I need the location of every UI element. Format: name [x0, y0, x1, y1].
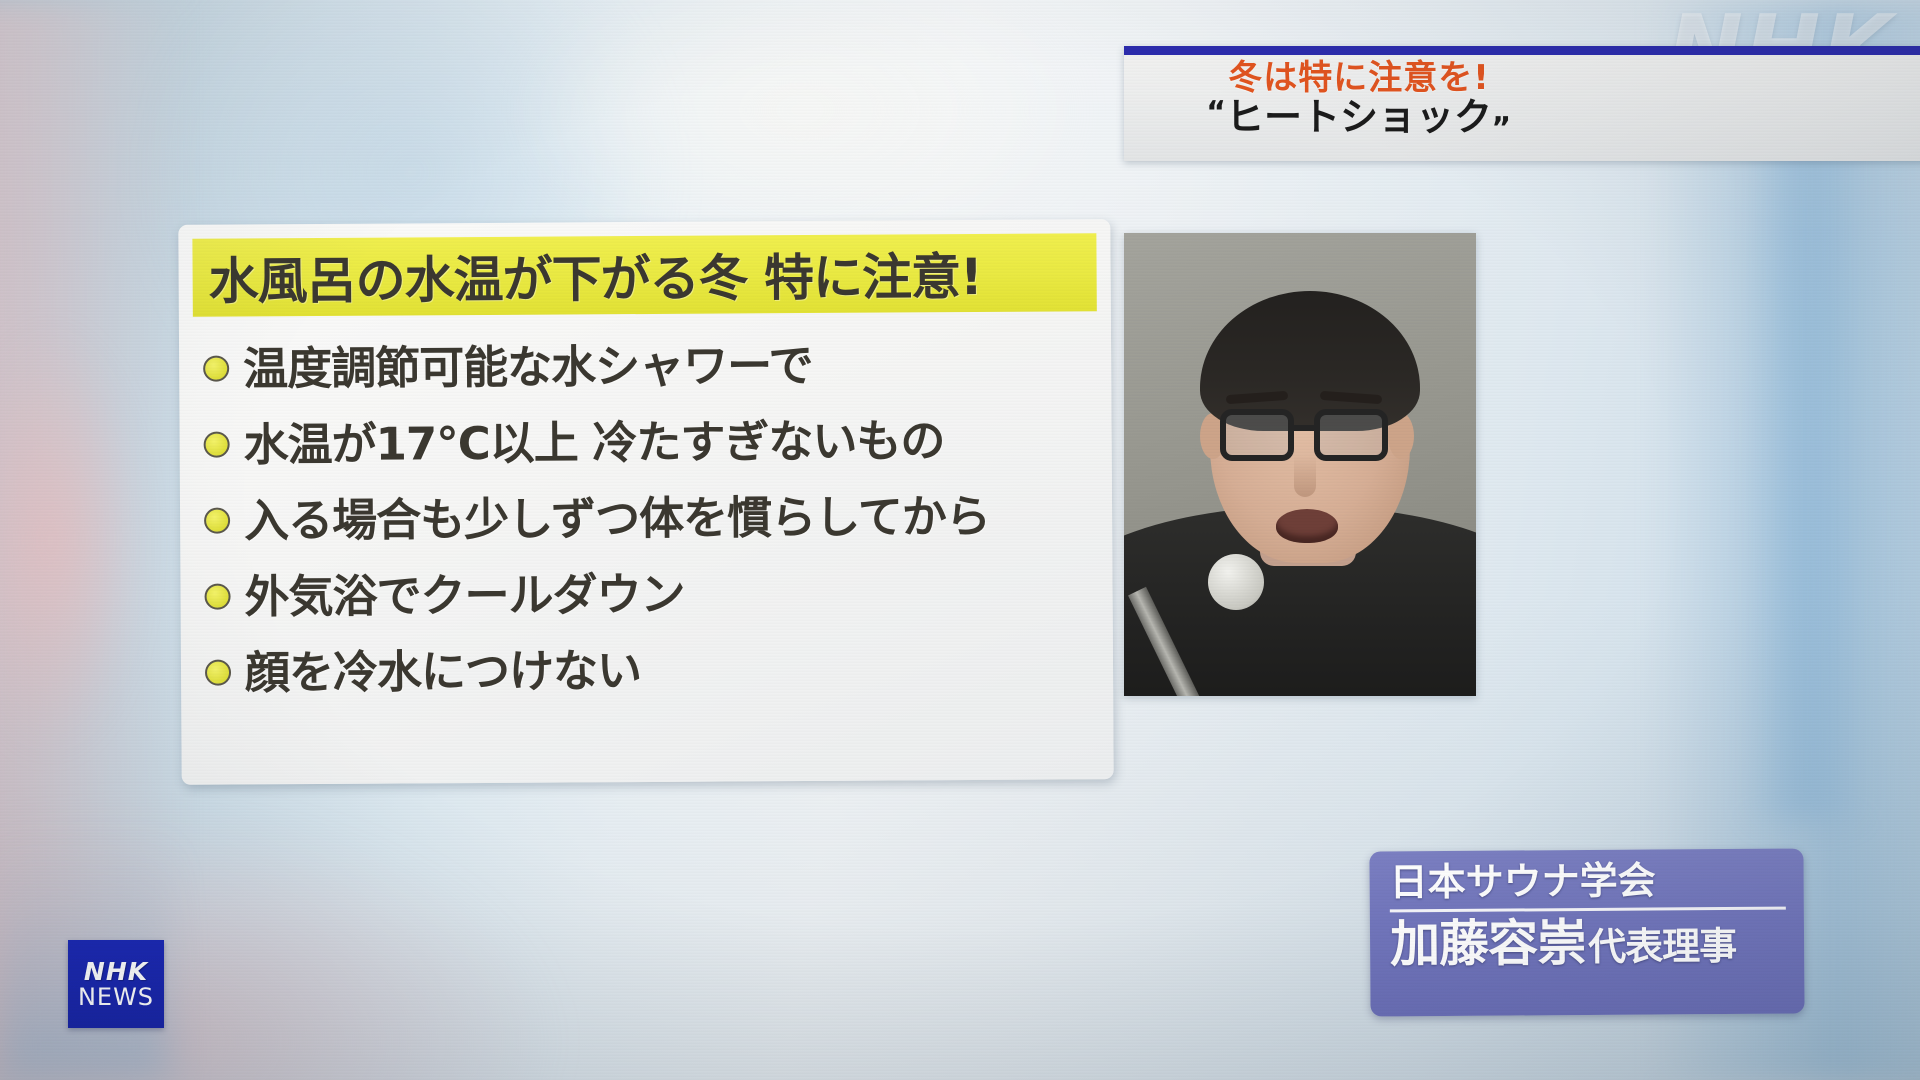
microphone-head [1208, 554, 1264, 610]
nhk-news-logo: NHK NEWS [68, 940, 164, 1028]
list-item-label: 外気浴でクールダウン [244, 571, 684, 619]
nhk-logo-top-text: NHK [84, 959, 148, 984]
list-item-label: 水温が17℃以上 冷たすぎないもの [244, 418, 945, 467]
broadcast-stage: NHK 冬は特に注意を! “ヒートショック„ 水風呂の水温が下がる冬 特に注意!… [0, 0, 1920, 1080]
open-quote-glyph: “ [1206, 95, 1226, 130]
list-item-label: 温度調節可能な水シャワーで [243, 342, 813, 390]
glasses-lens-left [1220, 409, 1294, 461]
glasses-lens-right [1314, 409, 1388, 461]
list-item: 顔を冷水につけない [205, 629, 1099, 710]
list-item: 入る場合も少しずつ体を慣らしてから [204, 477, 1098, 558]
list-item-label: 入る場合も少しずつ体を慣らしてから [244, 493, 990, 543]
bullet-list: 温度調節可能な水シャワーで 水温が17℃以上 冷たすぎないもの 入る場合も少しず… [193, 321, 1099, 711]
bullet-dot-icon [204, 508, 230, 534]
speaker-mouth [1276, 509, 1338, 543]
topic-banner-headline: 冬は特に注意を! [1124, 59, 1594, 97]
name-plate-divider [1390, 906, 1786, 912]
list-item: 温度調節可能な水シャワーで [203, 325, 1097, 406]
bullet-dot-icon [205, 660, 231, 686]
glasses-bridge [1294, 425, 1314, 431]
bullet-dot-icon [204, 432, 230, 458]
list-item-label: 顔を冷水につけない [245, 648, 641, 695]
list-item: 水温が17℃以上 冷たすぎないもの [203, 401, 1097, 482]
info-panel-headline-text: 水風呂の水温が下がる冬 特に注意! [208, 237, 982, 314]
speaker-name-line: 加藤容崇 代表理事 [1390, 915, 1790, 970]
topic-banner-subject: “ヒートショック„ [1124, 97, 1594, 138]
nhk-logo-bottom-text: NEWS [78, 985, 154, 1009]
bullet-dot-icon [204, 584, 230, 610]
close-quote-glyph: „ [1492, 95, 1512, 130]
speaker-name: 加藤容崇 [1390, 917, 1586, 970]
speaker-title: 代表理事 [1588, 927, 1736, 968]
topic-banner: 冬は特に注意を! “ヒートショック„ [1124, 46, 1920, 161]
info-panel-headline-bar: 水風呂の水温が下がる冬 特に注意! [192, 233, 1096, 317]
speaker-name-plate: 日本サウナ学会 加藤容崇 代表理事 [1369, 848, 1804, 1016]
topic-banner-subject-text: ヒートショック [1226, 95, 1492, 139]
speaker-photo [1124, 233, 1476, 696]
info-panel: 水風呂の水温が下がる冬 特に注意! 温度調節可能な水シャワーで 水温が17℃以上… [178, 219, 1113, 785]
speaker-nose [1294, 455, 1316, 497]
speaker-affiliation: 日本サウナ学会 [1389, 859, 1789, 904]
list-item: 外気浴でクールダウン [204, 553, 1098, 634]
bullet-dot-icon [203, 356, 229, 382]
